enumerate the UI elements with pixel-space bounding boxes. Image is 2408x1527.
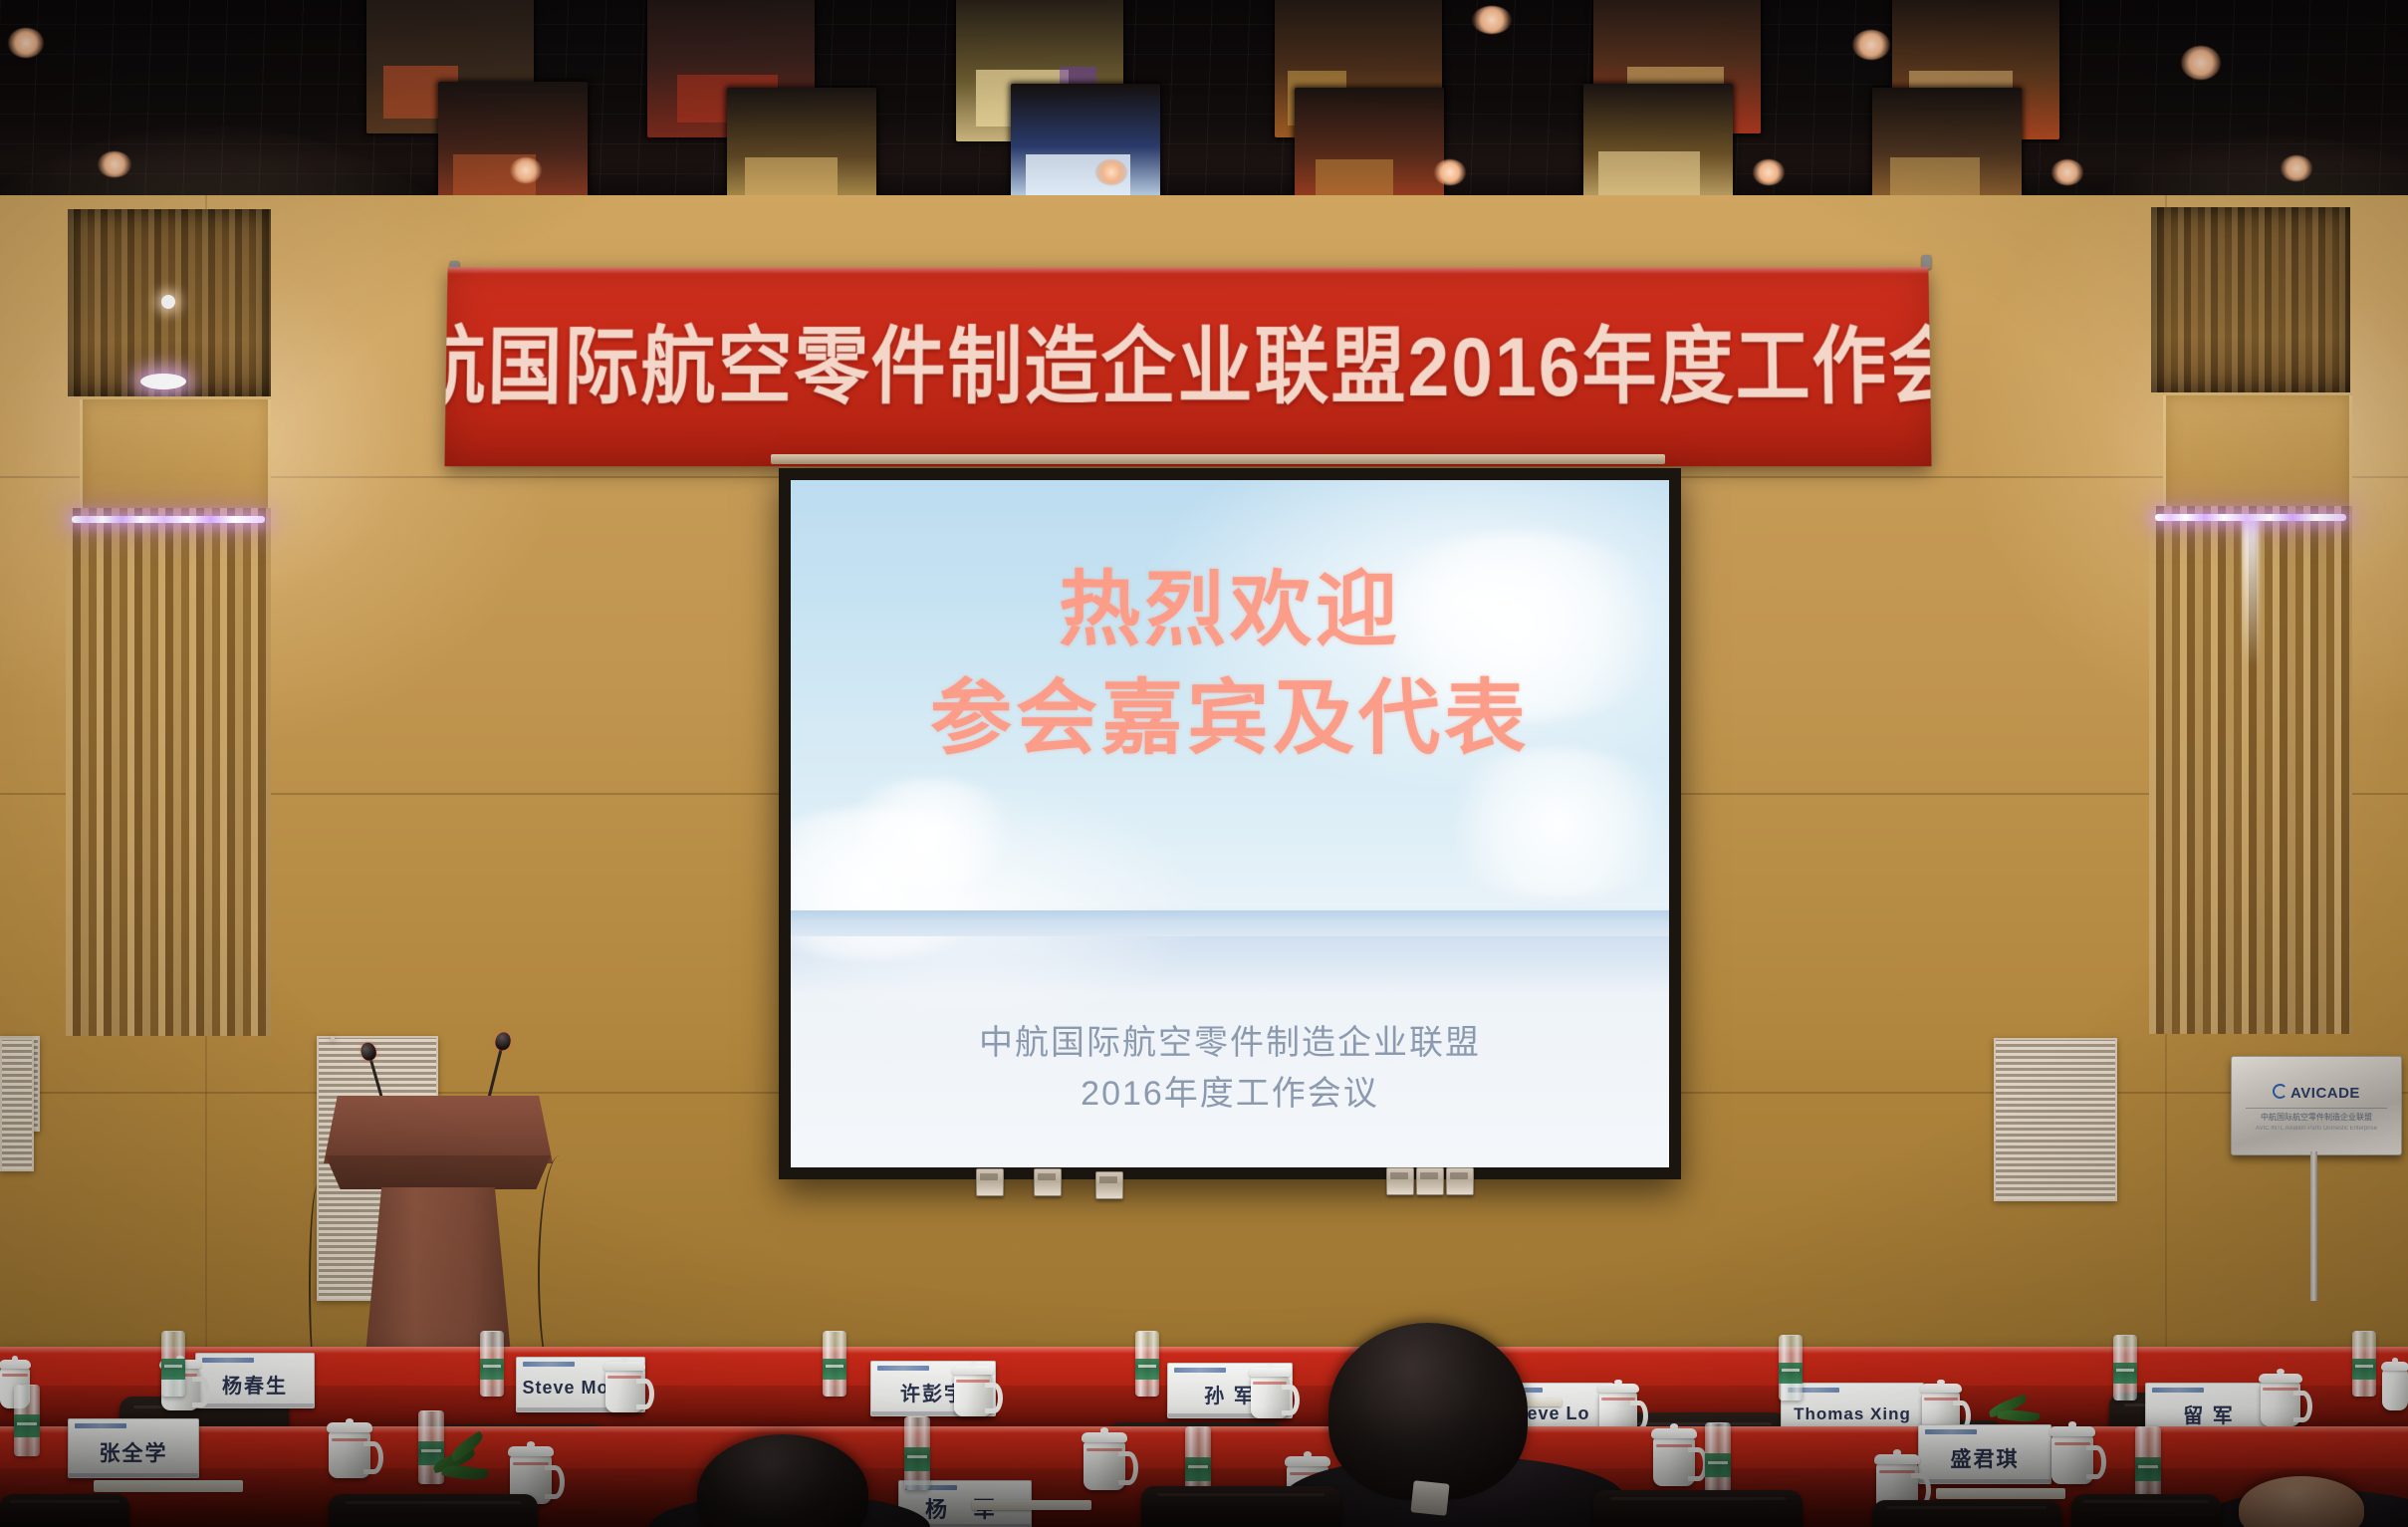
- nameplate: 杨春生: [195, 1353, 315, 1408]
- curtain-alcove-lower-left: [66, 508, 271, 1036]
- ceiling-spotlight: [8, 28, 44, 58]
- wall-plate[interactable]: [1386, 1167, 1414, 1195]
- projection-screen: 热烈欢迎 参会嘉宾及代表 中航国际航空零件制造企业联盟 2016年度工作会议: [791, 480, 1669, 1167]
- led-strip-right: [2155, 514, 2346, 521]
- water-bottle: [1705, 1422, 1731, 1496]
- potted-plant: [428, 1436, 498, 1492]
- water-bottle: [1779, 1335, 1803, 1400]
- podium-top: [324, 1096, 553, 1163]
- ceiling-spotlight: [2181, 46, 2221, 80]
- ceiling-panel: [1295, 88, 1444, 204]
- nameplate-name: 张全学: [100, 1437, 168, 1467]
- sign-panel: AVICADE 中航国际航空零件制造企业联盟 AVIC INTL Aviatio…: [2231, 1056, 2402, 1155]
- water-bottle: [161, 1331, 185, 1397]
- ceiling-spotlight: [1852, 30, 1890, 60]
- banner-text: 中航国际航空零件制造企业联盟2016年度工作会议: [444, 325, 1931, 408]
- chair[interactable]: [1872, 1500, 2061, 1527]
- nameplate-name: 盛君琪: [1951, 1443, 2020, 1473]
- nameplate-header-bar: [1174, 1368, 1226, 1373]
- nameplate-name: Thomas Xing: [1794, 1404, 1911, 1424]
- wall-panel-right: [2163, 392, 2352, 510]
- chair[interactable]: [329, 1494, 538, 1527]
- wall-plate[interactable]: [1416, 1167, 1444, 1195]
- ceiling-spotlight: [1753, 159, 1785, 185]
- ceiling-spotlight: [1095, 159, 1127, 185]
- nameplate-header-bar: [75, 1423, 126, 1428]
- wall-panel-left: [80, 396, 271, 512]
- ceiling-spotlight: [1472, 6, 1512, 34]
- teacup: [2261, 1381, 2300, 1426]
- ceiling: [0, 0, 2408, 204]
- welcome-line-1: 热烈欢迎: [791, 568, 1669, 654]
- cloud: [1428, 749, 1669, 898]
- wall-plate[interactable]: [976, 1168, 1004, 1196]
- cloud: [831, 779, 1030, 889]
- conference-banner: 中航国际航空零件制造企业联盟2016年度工作会议: [444, 267, 1931, 466]
- water-bottle: [2113, 1335, 2137, 1400]
- water-bottle: [2135, 1426, 2161, 1500]
- chair[interactable]: [1593, 1490, 1803, 1527]
- nameplate-header-bar: [202, 1358, 254, 1363]
- ceiling-spotlight: [510, 157, 542, 183]
- table-top-edge: [0, 1347, 2408, 1354]
- welcome-headline: 热烈欢迎 参会嘉宾及代表: [791, 568, 1669, 763]
- nameplate-name: 孙 军: [1204, 1380, 1256, 1408]
- standing-sign: AVICADE 中航国际航空零件制造企业联盟 AVIC INTL Aviatio…: [2231, 1056, 2408, 1275]
- ceiling-spotlight: [2051, 159, 2083, 185]
- wall-plate[interactable]: [1034, 1168, 1062, 1196]
- ceiling-spotlight: [1434, 159, 1466, 185]
- air-vent-center-left: [331, 1036, 335, 1040]
- nameplate-header-bar: [877, 1366, 929, 1371]
- welcome-line-2: 参会嘉宾及代表: [791, 676, 1669, 763]
- sign-divider: [2246, 1108, 2388, 1109]
- plant-leaf: [1997, 1407, 2040, 1424]
- air-vent-far-left: [0, 1038, 34, 1171]
- curtain-alcove-lower-right: [2149, 506, 2352, 1034]
- document-stack: [1936, 1488, 2065, 1499]
- water-bottle: [2352, 1331, 2376, 1397]
- curtain: [66, 508, 271, 1036]
- teacup: [1653, 1436, 1695, 1486]
- teacup: [2382, 1369, 2408, 1410]
- teacup: [1084, 1440, 1125, 1490]
- ceiling-panel: [438, 82, 588, 203]
- document-stack: [972, 1500, 1091, 1510]
- avic-swoosh-icon: [2273, 1084, 2288, 1099]
- teacup: [1251, 1375, 1289, 1418]
- attendee-collar: [1410, 1480, 1449, 1516]
- document-stack: [94, 1480, 243, 1492]
- nameplate-header-bar: [1925, 1429, 1977, 1434]
- attendee-head: [1328, 1323, 1528, 1500]
- water-bottle: [14, 1385, 40, 1456]
- nameplate-header-bar: [523, 1362, 575, 1367]
- ceiling-panel: [1011, 84, 1160, 204]
- ceiling-spotlight: [98, 151, 131, 177]
- horizon-band: [791, 910, 1669, 936]
- chair[interactable]: [0, 1494, 129, 1527]
- nameplate: 张全学: [68, 1418, 199, 1478]
- nameplate-name: 杨春生: [222, 1370, 288, 1399]
- sign-chinese: 中航国际航空零件制造企业联盟: [2232, 1112, 2401, 1123]
- sign-english: AVIC INTL Aviation Parts Domestic Enterp…: [2232, 1126, 2401, 1132]
- ceiling-spotlight: [2281, 155, 2312, 181]
- led-strip-left: [72, 516, 265, 523]
- podium-lip: [316, 1155, 561, 1189]
- curtain-alcove-upper-right: [2151, 207, 2350, 392]
- sign-brand: AVICADE: [2232, 1084, 2401, 1102]
- projection-screen-frame: 热烈欢迎 参会嘉宾及代表 中航国际航空零件制造企业联盟 2016年度工作会议: [779, 468, 1681, 1179]
- conference-subtitle: 中航国际航空零件制造企业联盟 2016年度工作会议: [791, 1018, 1669, 1120]
- nameplate-header-bar: [2152, 1388, 2204, 1393]
- plant-leaf: [441, 1462, 488, 1482]
- subtitle-line-1: 中航国际航空零件制造企业联盟: [791, 1018, 1669, 1069]
- curtain: [2151, 207, 2350, 392]
- curtain-alcove-upper-left: [68, 209, 271, 396]
- wall-plate[interactable]: [1095, 1171, 1123, 1199]
- sign-pole: [2310, 1151, 2317, 1301]
- conference-hall-photo: 中航国际航空零件制造企业联盟2016年度工作会议 热烈欢迎 参会嘉宾及代表 中航…: [0, 0, 2408, 1527]
- water-bottle: [480, 1331, 504, 1397]
- ceiling-panel: [1872, 88, 2022, 204]
- water-bottle: [823, 1331, 846, 1397]
- teacup: [2051, 1434, 2093, 1484]
- chair[interactable]: [1141, 1486, 1340, 1527]
- water-bottle: [904, 1416, 930, 1490]
- subtitle-line-2: 2016年度工作会议: [791, 1069, 1669, 1120]
- teacup: [329, 1430, 370, 1478]
- wall-plate[interactable]: [1446, 1167, 1474, 1195]
- chair[interactable]: [2071, 1494, 2221, 1527]
- potted-plant: [1986, 1385, 2047, 1434]
- teacup: [954, 1373, 992, 1416]
- ceiling-panel: [1583, 84, 1733, 204]
- water-bottle: [1135, 1331, 1159, 1397]
- ceiling-panel: [727, 88, 876, 204]
- nameplate-name: 留 军: [2183, 1400, 2235, 1428]
- teacup: [605, 1369, 643, 1412]
- air-vent-right: [1994, 1038, 2117, 1201]
